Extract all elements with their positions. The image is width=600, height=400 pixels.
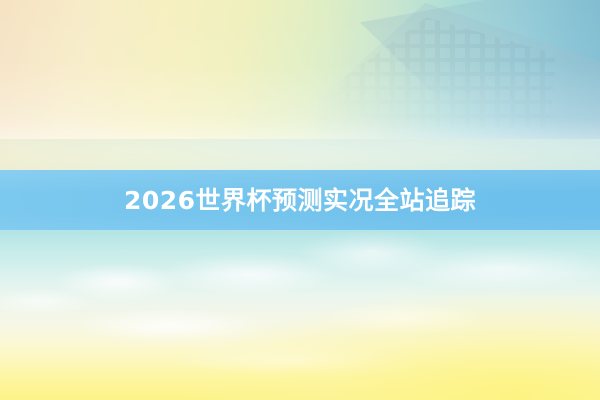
- background-upper-sheen: [0, 0, 600, 140]
- background-sky-top-wash: [0, 230, 600, 274]
- background-seam-tint: [0, 139, 600, 170]
- title-band: 2026世界杯预测实况全站追踪: [0, 170, 600, 230]
- banner-title: 2026世界杯预测实况全站追踪: [124, 188, 476, 213]
- promo-banner: 2026世界杯预测实况全站追踪: [0, 0, 600, 400]
